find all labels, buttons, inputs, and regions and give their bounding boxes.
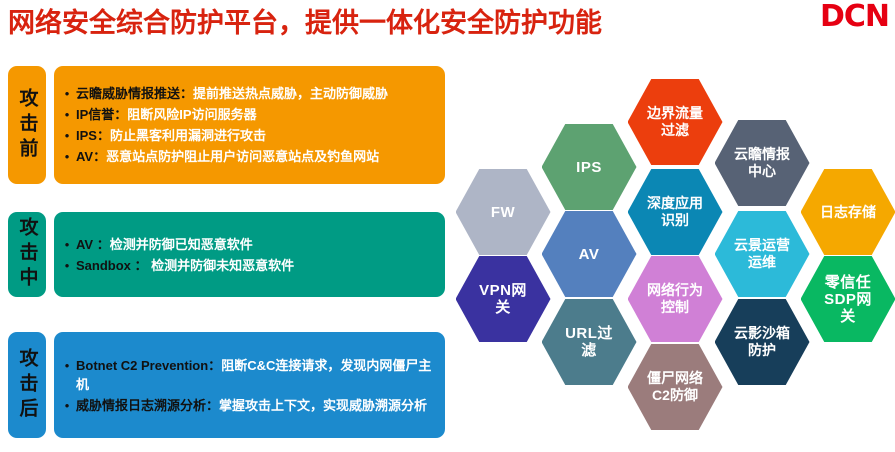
hex-node-label: 边界流量过滤 <box>644 105 706 139</box>
hex-node[interactable]: 边界流量过滤 <box>628 79 723 165</box>
hex-node[interactable]: 深度应用识别 <box>628 169 723 255</box>
hex-node[interactable]: URL过滤 <box>542 299 637 385</box>
hex-node[interactable]: 日志存储 <box>801 169 895 255</box>
hex-node-label: URL过滤 <box>558 325 620 359</box>
hex-node[interactable]: 云景运营运维 <box>715 211 810 297</box>
hex-node-label: 云景运营运维 <box>731 237 793 271</box>
hex-node[interactable]: AV <box>542 211 637 297</box>
hex-node[interactable]: IPS <box>542 124 637 210</box>
hex-node-label: 深度应用识别 <box>644 195 706 229</box>
capability-hex-diagram: FWIPS边界流量过滤云瞻情报中心日志存储AV深度应用识别云景运营运维VPN网关… <box>0 0 895 452</box>
hex-node-label: 零信任SDP网关 <box>817 274 879 325</box>
hex-node-label: 云瞻情报中心 <box>731 146 793 180</box>
hex-node-label: IPS <box>558 159 620 176</box>
hex-node-label: AV <box>558 246 620 263</box>
hex-node-label: 日志存储 <box>817 204 879 221</box>
hex-node[interactable]: VPN网关 <box>456 256 551 342</box>
slide-root: 网络安全综合防护平台，提供一体化安全防护功能 DCN 攻击前 • 云瞻威胁情报推… <box>0 0 895 452</box>
hex-node[interactable]: FW <box>456 169 551 255</box>
hex-node[interactable]: 网络行为控制 <box>628 256 723 342</box>
hex-node-label: 僵尸网络C2防御 <box>644 370 706 404</box>
hex-node[interactable]: 零信任SDP网关 <box>801 256 895 342</box>
hex-node[interactable]: 云影沙箱防护 <box>715 299 810 385</box>
hex-node[interactable]: 僵尸网络C2防御 <box>628 344 723 430</box>
hex-node-label: 云影沙箱防护 <box>731 325 793 359</box>
hex-node[interactable]: 云瞻情报中心 <box>715 120 810 206</box>
hex-node-label: VPN网关 <box>472 282 534 316</box>
hex-node-label: 网络行为控制 <box>644 282 706 316</box>
hex-node-label: FW <box>472 204 534 221</box>
